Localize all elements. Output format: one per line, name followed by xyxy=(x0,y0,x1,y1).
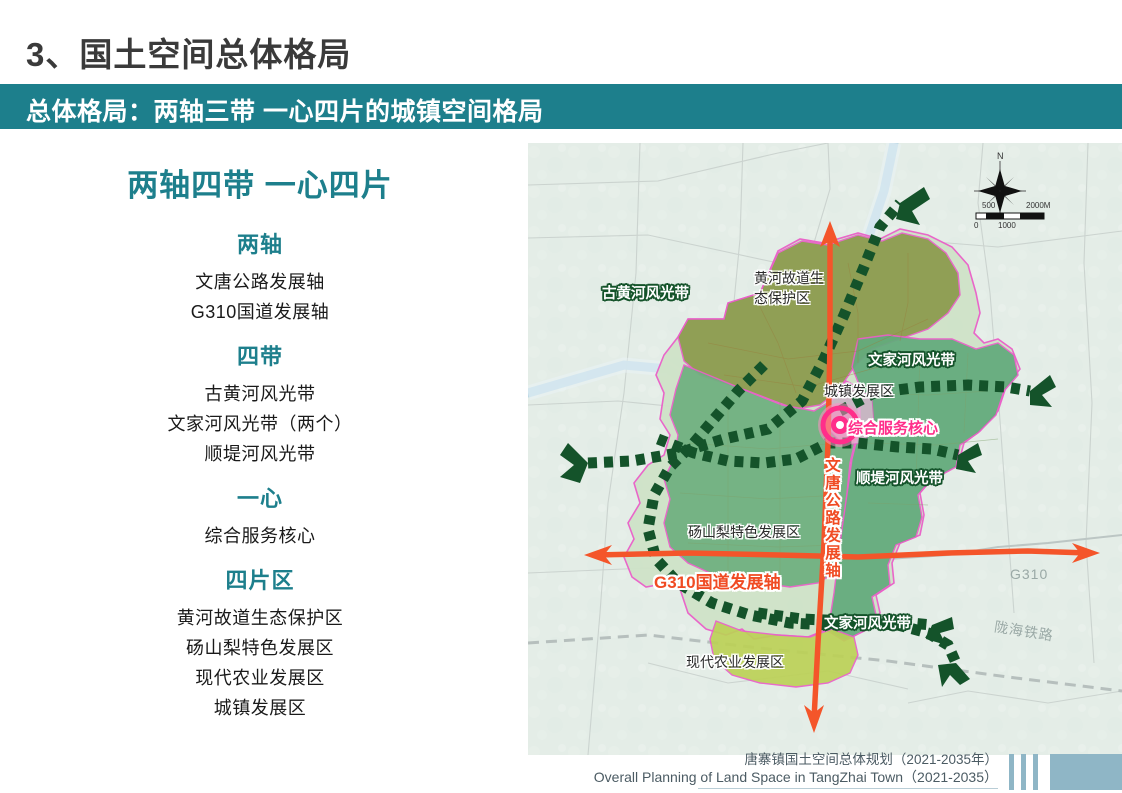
list-item: 文家河风光带（两个） xyxy=(0,409,520,439)
list-item: 黄河故道生态保护区 xyxy=(0,603,520,633)
footer: 唐寨镇国土空间总体规划（2021-2035年） Overall Planning… xyxy=(700,748,1122,793)
group-heading: 四片区 xyxy=(0,563,520,595)
group-four-belts: 四带 古黄河风光带 文家河风光带（两个） 顺堤河风光带 xyxy=(0,339,520,469)
group-one-core: 一心 综合服务核心 xyxy=(0,481,520,551)
group-heading: 四带 xyxy=(0,339,520,371)
list-item: 砀山梨特色发展区 xyxy=(0,633,520,663)
list-item: 古黄河风光带 xyxy=(0,379,520,409)
list-item: 现代农业发展区 xyxy=(0,663,520,693)
list-item: 顺堤河风光带 xyxy=(0,439,520,469)
group-heading: 两轴 xyxy=(0,227,520,259)
footer-accent-bar-1 xyxy=(1009,754,1014,790)
panel-title: 两轴四带 一心四片 xyxy=(0,160,520,205)
group-two-axes: 两轴 文唐公路发展轴 G310国道发展轴 xyxy=(0,227,520,327)
list-item: G310国道发展轴 xyxy=(0,297,520,327)
footer-title-cn: 唐寨镇国土空间总体规划（2021-2035年） xyxy=(744,748,998,768)
list-item: 城镇发展区 xyxy=(0,693,520,723)
group-four-districts: 四片区 黄河故道生态保护区 砀山梨特色发展区 现代农业发展区 城镇发展区 xyxy=(0,563,520,723)
list-item: 文唐公路发展轴 xyxy=(0,267,520,297)
subtitle-text: 总体格局：两轴三带 一心四片的城镇空间格局 xyxy=(26,92,543,128)
footer-accent-bar-3 xyxy=(1033,754,1038,790)
map-graphic xyxy=(528,143,1122,755)
group-heading: 一心 xyxy=(0,481,520,513)
planning-map[interactable]: 古黄河风光带 文家河风光带 顺堤河风光带 文家河风光带 黄河故道生 态保护区 城… xyxy=(528,143,1122,755)
footer-divider xyxy=(698,788,998,789)
footer-accent-bar-2 xyxy=(1021,754,1026,790)
footer-accent-block xyxy=(1050,754,1122,790)
footer-title-en: Overall Planning of Land Space in TangZh… xyxy=(594,767,998,787)
list-item: 综合服务核心 xyxy=(0,521,520,551)
left-text-panel: 两轴四带 一心四片 两轴 文唐公路发展轴 G310国道发展轴 四带 古黄河风光带… xyxy=(0,160,520,735)
scale-bar xyxy=(976,213,1044,219)
page-title: 3、国土空间总体格局 xyxy=(26,28,351,76)
core-symbol xyxy=(818,403,862,447)
